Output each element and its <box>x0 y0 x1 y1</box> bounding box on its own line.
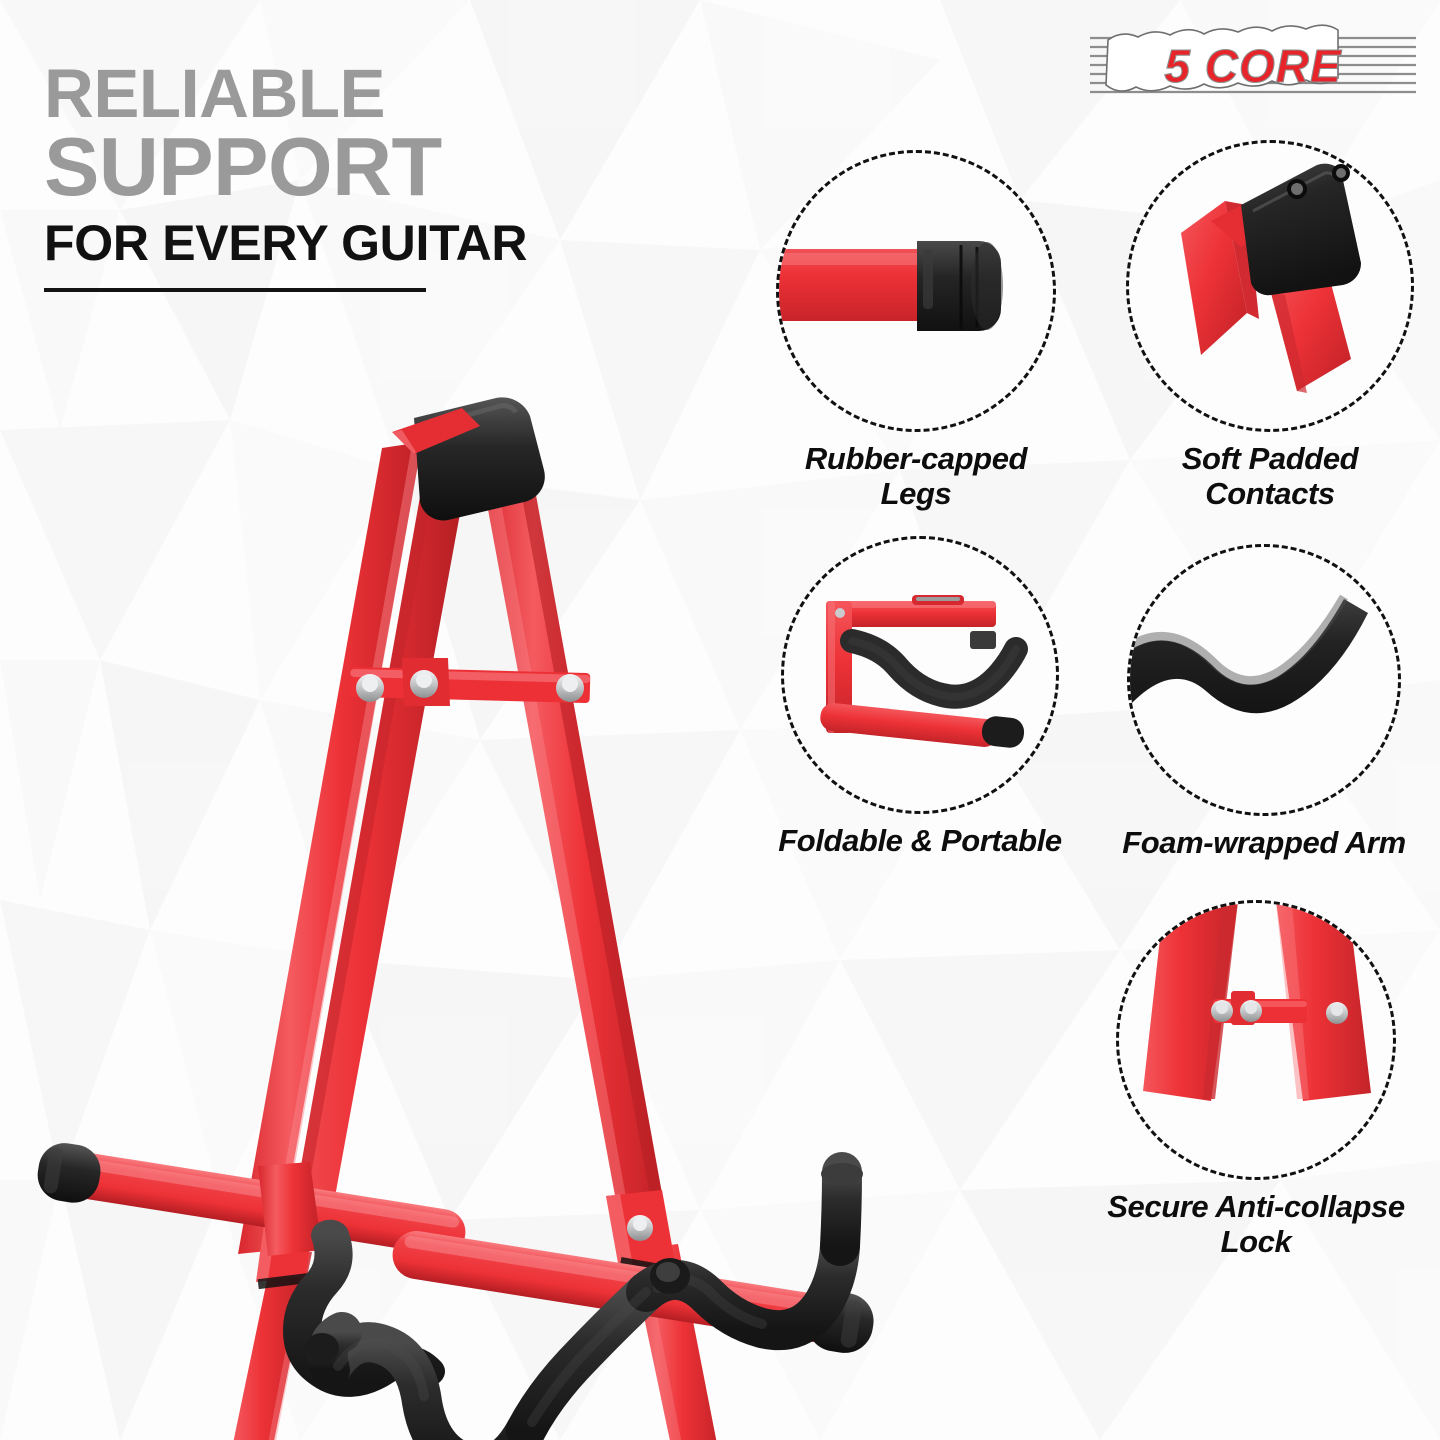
feature-foam-wrapped-arm: Foam-wrapped Arm <box>1114 544 1414 861</box>
hero-product-image: Red folding A-frame guitar stand with bl… <box>10 370 1000 1440</box>
headline-divider <box>44 288 426 292</box>
infographic-canvas: 5 CORE 5 CORE RELIABLE SUPPORT FOR EVERY… <box>0 0 1440 1440</box>
feature-caption: Secure Anti-collapse Lock <box>1086 1190 1426 1259</box>
headline-line-2: SUPPORT <box>44 129 704 205</box>
headline-line-1: RELIABLE <box>44 62 704 125</box>
feature-image-anti-collapse-lock <box>1116 900 1396 1180</box>
headline-block: RELIABLE SUPPORT FOR EVERY GUITAR <box>44 62 704 292</box>
feature-image-foam-wrapped-arm <box>1127 544 1401 816</box>
feature-caption: Soft Padded Contacts <box>1120 442 1420 511</box>
feature-caption: Foam-wrapped Arm <box>1106 826 1422 861</box>
five-core-logo: 5 CORE 5 CORE <box>1088 24 1418 102</box>
headline-line-3: FOR EVERY GUITAR <box>44 218 704 268</box>
feature-anti-collapse-lock: Secure Anti-collapse Lock <box>1106 900 1406 1259</box>
feature-image-soft-padded-contacts <box>1126 140 1414 432</box>
svg-text:5 CORE: 5 CORE <box>1164 40 1342 92</box>
feature-soft-padded-contacts: Soft Padded Contacts <box>1120 140 1420 511</box>
